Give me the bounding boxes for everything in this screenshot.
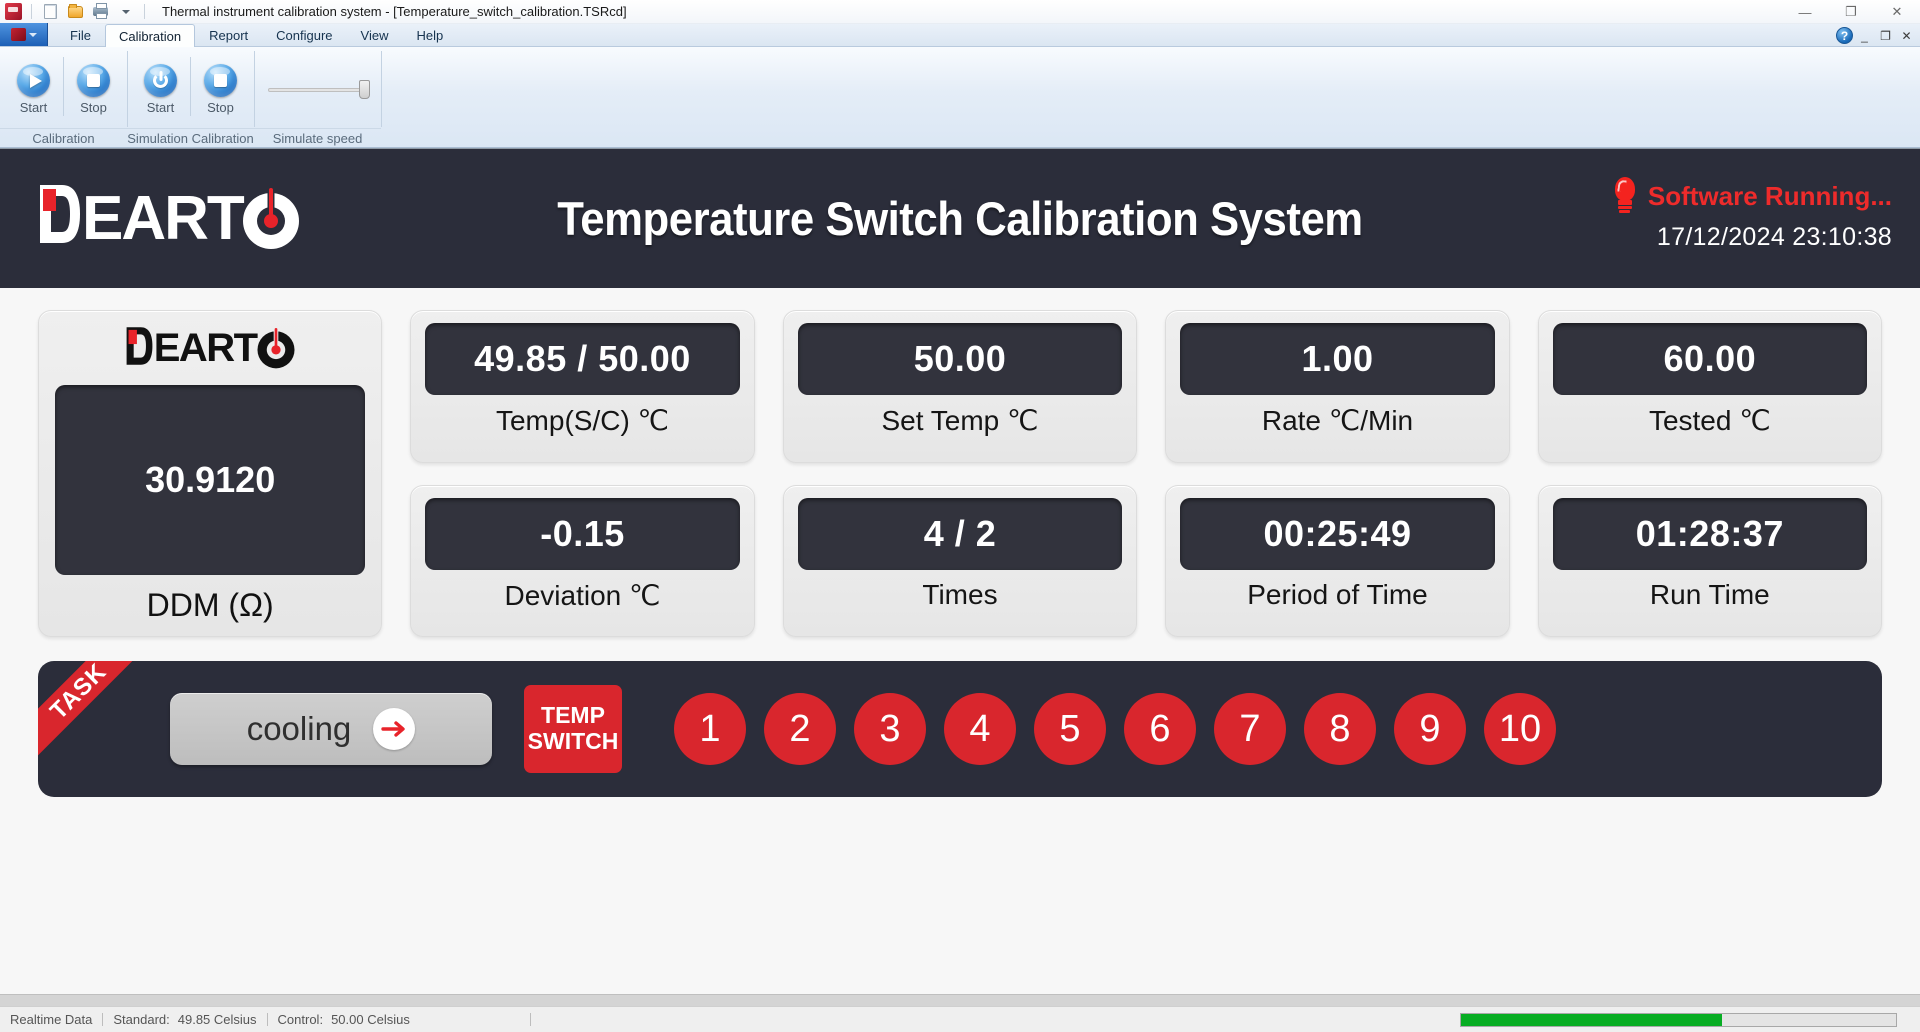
stop-icon xyxy=(77,64,110,97)
ribbon-group-label: Calibration xyxy=(0,128,127,147)
panel-set-temp[interactable]: 50.00 Set Temp ℃ xyxy=(783,310,1138,463)
readout-value: -0.15 xyxy=(425,498,739,570)
step-number-3[interactable]: 3 xyxy=(854,693,926,765)
step-number-1[interactable]: 1 xyxy=(674,693,746,765)
status-area: Software Running... 17/12/2024 23:10:38 xyxy=(1612,177,1892,252)
dearto-logo: D EART xyxy=(38,183,301,254)
status-bar-strip xyxy=(0,994,1920,1006)
calibration-stop-button[interactable]: Stop xyxy=(66,61,121,118)
stop-icon xyxy=(204,64,237,97)
window-titlebar: Thermal instrument calibration system - … xyxy=(0,0,1920,24)
panel-times[interactable]: 4 / 2 Times xyxy=(783,485,1138,638)
panel-label: Temp(S/C) ℃ xyxy=(496,404,669,437)
ribbon-group-simulation-calibration: Start Stop Simulation Calibration xyxy=(127,47,254,147)
ddm-dearto-logo: D EART xyxy=(125,325,296,371)
readout-value: 49.85 / 50.00 xyxy=(425,323,739,395)
customize-caret-icon[interactable] xyxy=(116,2,135,21)
status-control: Control: 50.00 Celsius xyxy=(268,1012,420,1027)
button-label: Stop xyxy=(80,100,107,115)
simulation-stop-button[interactable]: Stop xyxy=(193,61,248,118)
panel-rate[interactable]: 1.00 Rate ℃/Min xyxy=(1165,310,1509,463)
panel-label: Rate ℃/Min xyxy=(1262,404,1413,437)
panel-label: Run Time xyxy=(1650,579,1770,611)
menu-item-report[interactable]: Report xyxy=(195,23,262,46)
readout-value: 00:25:49 xyxy=(1180,498,1494,570)
menu-item-calibration[interactable]: Calibration xyxy=(105,24,195,47)
divider xyxy=(144,4,145,19)
ribbon-group-simulate-speed: Simulate speed xyxy=(254,47,381,147)
mdi-window-controls: ? _ ❐ ✕ xyxy=(1836,27,1916,44)
lightbulb-icon xyxy=(1612,177,1638,215)
window-close-button[interactable]: ✕ xyxy=(1874,0,1920,24)
menu-item-file[interactable]: File xyxy=(56,23,105,46)
window-minimize-button[interactable]: — xyxy=(1782,0,1828,24)
step-number-5[interactable]: 5 xyxy=(1034,693,1106,765)
page-title: Temperature Switch Calibration System xyxy=(67,191,1853,246)
readout-value: 50.00 xyxy=(798,323,1123,395)
status-bar: Realtime Data Standard: 49.85 Celsius Co… xyxy=(0,1006,1920,1032)
main-content: 49.85 / 50.00 Temp(S/C) ℃ 50.00 Set Temp… xyxy=(0,288,1920,637)
readout-value: 1.00 xyxy=(1180,323,1494,395)
print-icon[interactable] xyxy=(91,2,110,21)
button-label: Start xyxy=(147,100,174,115)
open-folder-icon[interactable] xyxy=(66,2,85,21)
menu-items: File Calibration Report Configure View H… xyxy=(56,23,457,46)
panel-tested[interactable]: 60.00 Tested ℃ xyxy=(1538,310,1882,463)
chevron-down-icon xyxy=(29,33,37,37)
ribbon-group-label: Simulate speed xyxy=(254,128,381,147)
mdi-minimize-button[interactable]: _ xyxy=(1855,27,1874,44)
menu-item-view[interactable]: View xyxy=(347,23,403,46)
step-number-10[interactable]: 10 xyxy=(1484,693,1556,765)
slider-thumb[interactable] xyxy=(359,80,370,99)
ribbon-empty-area xyxy=(381,47,1920,147)
step-number-row: 1 2 3 4 5 6 7 8 9 10 xyxy=(674,693,1556,765)
button-label: Stop xyxy=(207,100,234,115)
step-number-9[interactable]: 9 xyxy=(1394,693,1466,765)
application-icon xyxy=(5,3,22,20)
task-corner-ribbon: TASK xyxy=(38,661,149,762)
panel-deviation[interactable]: -0.15 Deviation ℃ xyxy=(410,485,754,638)
badge-line-1: TEMP xyxy=(541,703,605,729)
window-title: Thermal instrument calibration system - … xyxy=(162,4,627,19)
status-standard: Standard: 49.85 Celsius xyxy=(103,1012,266,1027)
mdi-restore-button[interactable]: ❐ xyxy=(1876,27,1895,44)
application-header: D EART Temperatur xyxy=(0,148,1920,288)
status-badge: Software Running... xyxy=(1648,181,1892,212)
divider xyxy=(190,57,191,116)
readout-value: 60.00 xyxy=(1553,323,1867,395)
play-icon xyxy=(17,64,50,97)
arrow-right-icon xyxy=(373,708,415,750)
menu-item-help[interactable]: Help xyxy=(402,23,457,46)
simulation-start-button[interactable]: Start xyxy=(133,61,188,118)
divider xyxy=(530,1013,531,1026)
task-state-label: cooling xyxy=(247,710,352,748)
window-controls: — ❐ ✕ xyxy=(1782,0,1920,24)
task-state-button[interactable]: cooling xyxy=(170,693,492,765)
ddm-readout-value: 30.9120 xyxy=(55,385,365,575)
menu-bar: File Calibration Report Configure View H… xyxy=(0,24,1920,47)
window-restore-button[interactable]: ❐ xyxy=(1828,0,1874,24)
simulate-speed-slider[interactable] xyxy=(260,51,375,128)
button-label: Start xyxy=(20,100,47,115)
new-document-icon[interactable] xyxy=(41,2,60,21)
calibration-start-button[interactable]: Start xyxy=(6,61,61,118)
ribbon-group-calibration: Start Stop Calibration xyxy=(0,47,127,147)
readout-value: 4 / 2 xyxy=(798,498,1123,570)
divider xyxy=(31,4,32,19)
quick-access-toolbar xyxy=(0,2,148,21)
panel-run-time[interactable]: 01:28:37 Run Time xyxy=(1538,485,1882,638)
status-standard-value: 49.85 Celsius xyxy=(178,1012,257,1027)
panel-temp-sc[interactable]: 49.85 / 50.00 Temp(S/C) ℃ xyxy=(410,310,754,463)
divider xyxy=(63,57,64,116)
status-control-value: 50.00 Celsius xyxy=(331,1012,410,1027)
power-icon xyxy=(144,64,177,97)
status-mode: Realtime Data xyxy=(0,1012,102,1027)
badge-line-2: SWITCH xyxy=(528,729,619,755)
step-number-2[interactable]: 2 xyxy=(764,693,836,765)
task-bar: TASK cooling TEMP SWITCH 1 2 3 4 5 6 7 8… xyxy=(38,661,1882,797)
ribbon-group-label: Simulation Calibration xyxy=(127,128,254,147)
ribbon-toolbar: Start Stop Calibration Start Stop Simula… xyxy=(0,47,1920,148)
panel-label: Times xyxy=(922,579,997,611)
app-logo-icon xyxy=(11,28,26,41)
progress-bar-fill xyxy=(1461,1014,1722,1026)
mdi-close-button[interactable]: ✕ xyxy=(1897,27,1916,44)
panel-period-of-time[interactable]: 00:25:49 Period of Time xyxy=(1165,485,1509,638)
slider-track xyxy=(268,88,367,92)
readout-grid: 49.85 / 50.00 Temp(S/C) ℃ 50.00 Set Temp… xyxy=(38,310,1882,637)
step-number-7[interactable]: 7 xyxy=(1214,693,1286,765)
temp-switch-badge[interactable]: TEMP SWITCH xyxy=(524,685,622,773)
step-number-8[interactable]: 8 xyxy=(1304,693,1376,765)
ddm-label: DDM (Ω) xyxy=(147,587,274,624)
status-standard-label: Standard: xyxy=(113,1012,169,1027)
help-icon[interactable]: ? xyxy=(1836,27,1853,44)
panel-label: Period of Time xyxy=(1247,579,1428,611)
panel-label: Tested ℃ xyxy=(1649,404,1771,437)
application-menu-button[interactable] xyxy=(0,23,48,46)
step-number-6[interactable]: 6 xyxy=(1124,693,1196,765)
readout-value: 01:28:37 xyxy=(1553,498,1867,570)
panel-label: Deviation ℃ xyxy=(505,579,661,612)
step-number-4[interactable]: 4 xyxy=(944,693,1016,765)
panel-label: Set Temp ℃ xyxy=(881,404,1038,437)
status-control-label: Control: xyxy=(278,1012,324,1027)
progress-bar xyxy=(1460,1013,1897,1027)
timestamp: 17/12/2024 23:10:38 xyxy=(1612,223,1892,252)
menu-item-configure[interactable]: Configure xyxy=(262,23,346,46)
panel-ddm[interactable]: D EART xyxy=(38,310,382,637)
